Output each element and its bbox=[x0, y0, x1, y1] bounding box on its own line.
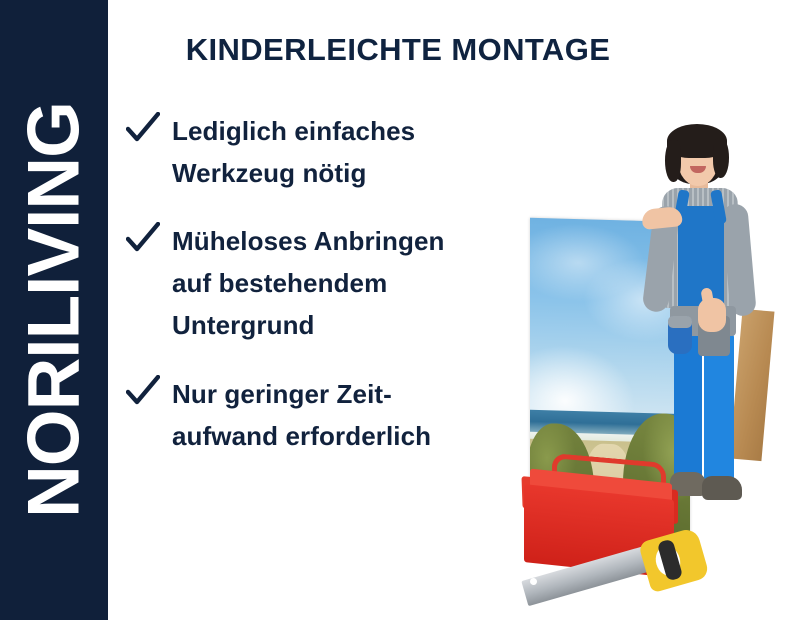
list-item-line: Werkzeug nötig bbox=[172, 152, 415, 194]
list-item-line: aufwand erforderlich bbox=[172, 415, 431, 457]
worker-hair-side-right bbox=[713, 138, 729, 178]
checkmark-icon bbox=[126, 112, 172, 152]
checkmark-icon bbox=[126, 222, 172, 262]
promo-banner: NORILIVING KINDERLEICHTE MONTAGE Ledigli… bbox=[0, 0, 800, 620]
worker-glove-cuff bbox=[668, 316, 692, 328]
list-item: Nur geringer Zeit- aufwand erforderlich bbox=[126, 373, 516, 457]
list-item-line: auf bestehendem bbox=[172, 262, 445, 304]
list-item-line: Untergrund bbox=[172, 304, 445, 346]
list-item-line: Lediglich einfaches bbox=[172, 110, 415, 152]
list-item: Lediglich einfaches Werkzeug nötig bbox=[126, 110, 516, 194]
list-item: Müheloses Anbringen auf bestehendem Unte… bbox=[126, 220, 516, 346]
list-item-text: Nur geringer Zeit- aufwand erforderlich bbox=[172, 373, 431, 457]
handsaw bbox=[522, 520, 712, 620]
brand-wordmark: NORILIVING bbox=[18, 102, 91, 518]
worker-hand-on-panel bbox=[641, 206, 683, 230]
brand-band: NORILIVING bbox=[0, 0, 108, 620]
page-title: KINDERLEICHTE MONTAGE bbox=[108, 32, 688, 68]
checkmark-icon bbox=[126, 375, 172, 415]
product-photo bbox=[500, 120, 800, 620]
list-item-text: Müheloses Anbringen auf bestehendem Unte… bbox=[172, 220, 445, 346]
feature-list: Lediglich einfaches Werkzeug nötig Mühel… bbox=[126, 110, 516, 483]
wood-board bbox=[730, 309, 775, 461]
list-item-line: Müheloses Anbringen bbox=[172, 220, 445, 262]
worker-shoe-right bbox=[702, 476, 742, 500]
list-item-line: Nur geringer Zeit- bbox=[172, 373, 431, 415]
list-item-text: Lediglich einfaches Werkzeug nötig bbox=[172, 110, 415, 194]
worker-hair-side-left bbox=[665, 140, 681, 182]
